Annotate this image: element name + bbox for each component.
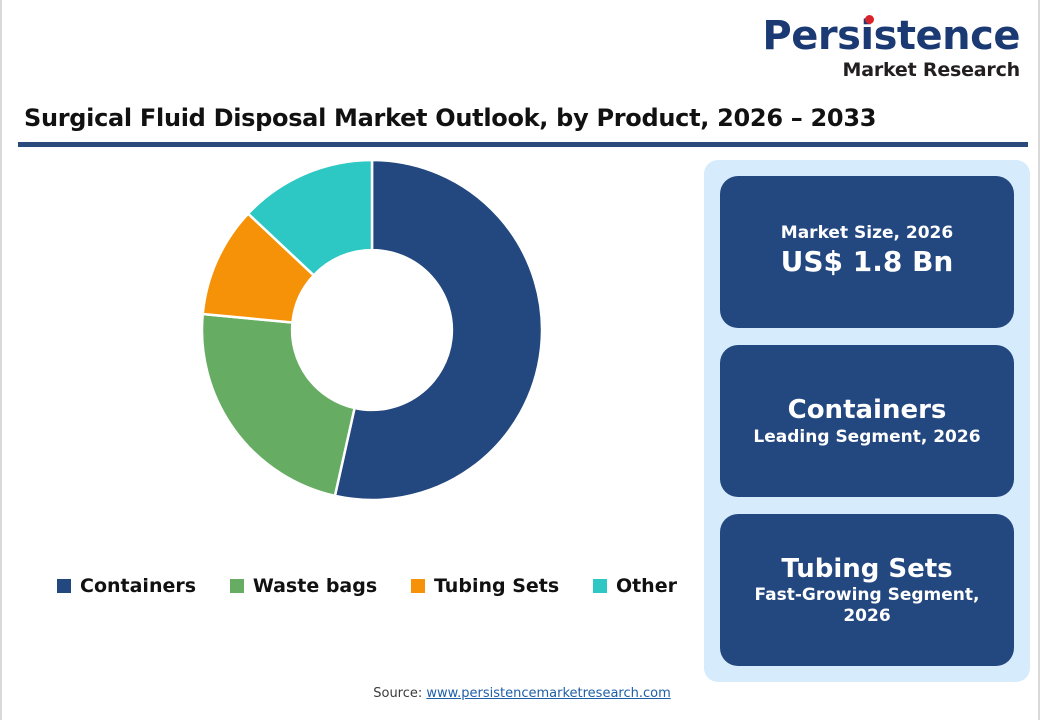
legend-label-other: Other — [616, 575, 677, 597]
legend-item-waste-bags[interactable]: Waste bags — [230, 575, 377, 597]
chart-area — [2, 155, 692, 575]
source-link[interactable]: www.persistencemarketresearch.com — [426, 686, 670, 701]
highlights-panel: Market Size, 2026 US$ 1.8 Bn Containers … — [704, 160, 1030, 682]
legend-swatch-tubing-sets — [411, 579, 425, 593]
leading-segment-label: Leading Segment, 2026 — [753, 427, 980, 448]
highlight-card-leading-segment: Containers Leading Segment, 2026 — [720, 345, 1014, 497]
logo-wordmark-text: Persistence — [762, 13, 1020, 59]
legend-swatch-other — [593, 579, 607, 593]
logo-wordmark: Persistence — [762, 16, 1020, 56]
title-divider — [18, 142, 1028, 147]
donut-slice-waste-bags[interactable] — [202, 314, 355, 496]
legend-item-containers[interactable]: Containers — [57, 575, 196, 597]
legend-swatch-waste-bags — [230, 579, 244, 593]
market-size-label: Market Size, 2026 — [781, 223, 953, 244]
legend-label-tubing-sets: Tubing Sets — [434, 575, 559, 597]
highlight-card-market-size: Market Size, 2026 US$ 1.8 Bn — [720, 176, 1014, 328]
source-note: Source: www.persistencemarketresearch.co… — [2, 686, 1040, 701]
chart-legend: Containers Waste bags Tubing Sets Other — [57, 575, 677, 597]
legend-swatch-containers — [57, 579, 71, 593]
legend-label-waste-bags: Waste bags — [253, 575, 377, 597]
page-title: Surgical Fluid Disposal Market Outlook, … — [24, 104, 876, 132]
fast-growing-segment-label: Fast-Growing Segment, 2026 — [734, 585, 1000, 628]
brand-logo: Persistence Market Research — [762, 16, 1020, 80]
market-size-value: US$ 1.8 Bn — [781, 244, 954, 280]
legend-label-containers: Containers — [80, 575, 196, 597]
logo-tagline: Market Research — [762, 61, 1020, 80]
highlight-card-fast-growing-segment: Tubing Sets Fast-Growing Segment, 2026 — [720, 514, 1014, 666]
chart-card: Persistence Market Research Surgical Flu… — [0, 0, 1040, 720]
legend-item-tubing-sets[interactable]: Tubing Sets — [411, 575, 559, 597]
fast-growing-segment-value: Tubing Sets — [781, 553, 952, 586]
donut-slices — [202, 160, 542, 500]
legend-item-other[interactable]: Other — [593, 575, 677, 597]
leading-segment-value: Containers — [788, 394, 947, 427]
source-prefix: Source: — [373, 686, 426, 701]
donut-chart — [197, 155, 547, 505]
